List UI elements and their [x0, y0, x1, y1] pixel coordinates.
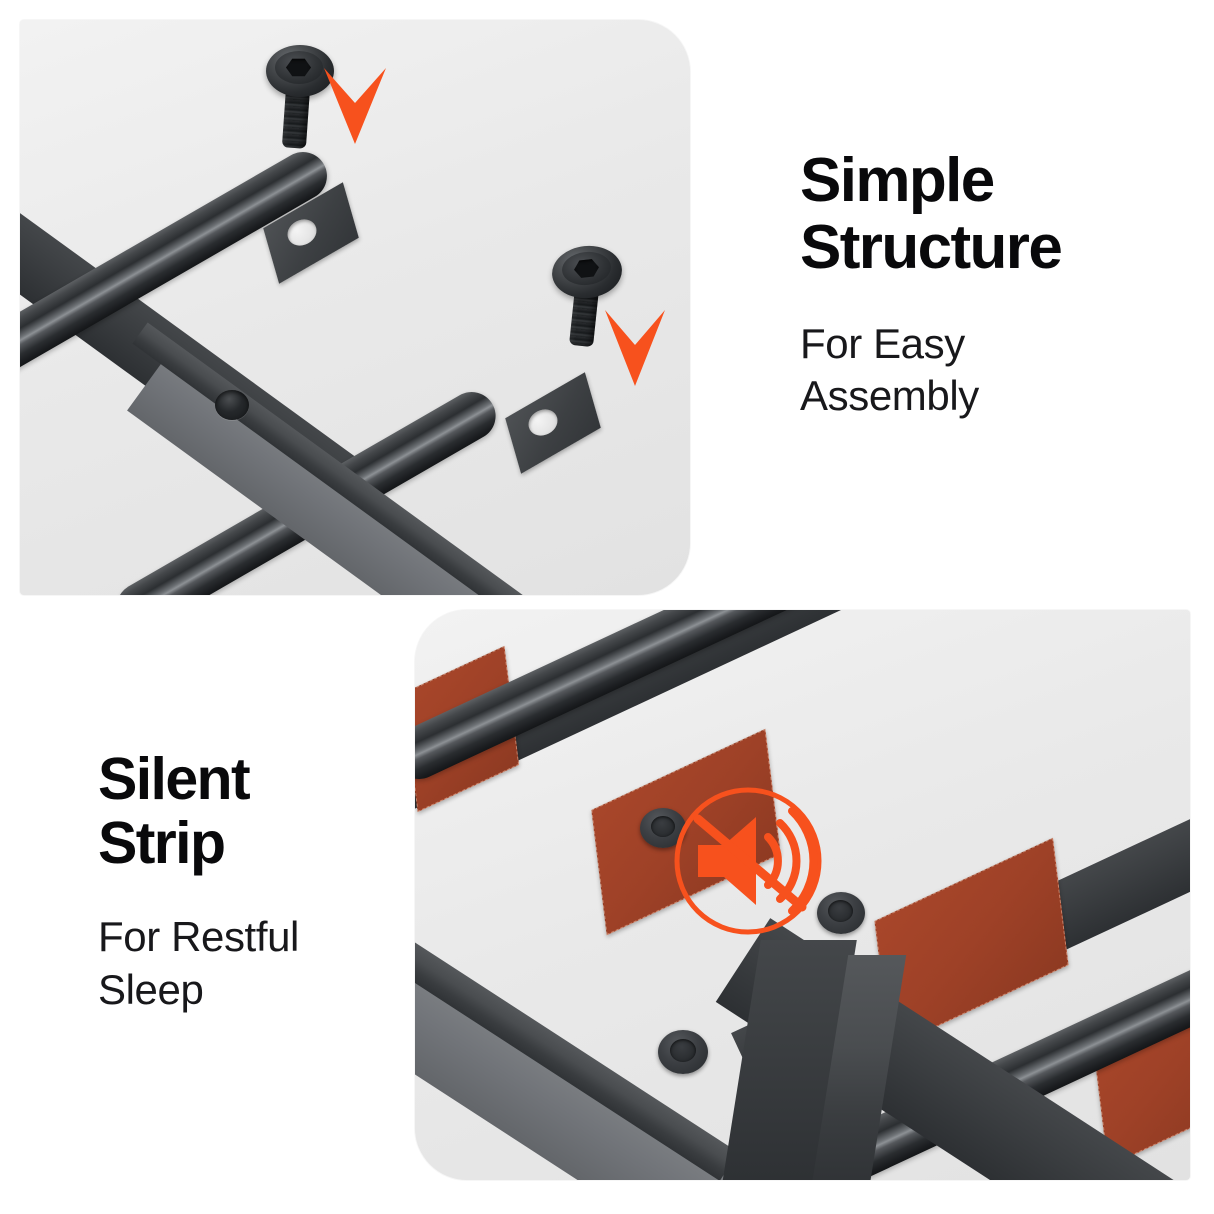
bed-frame-bolt-assembly-photo [20, 20, 690, 595]
hex-socket-cap-screw-middle [547, 238, 627, 358]
feature-subline-silent-strip: For Restful Sleep [98, 911, 428, 1015]
feature-text-simple-structure: Simple Structure For Easy Assembly [800, 148, 1200, 422]
feature-text-silent-strip: Silent Strip For Restful Sleep [98, 748, 428, 1016]
rubber-grommet-cap-right-recess [828, 900, 853, 922]
feature-subline-simple-structure: For Easy Assembly [800, 318, 1200, 422]
rubber-grommet-cap-center-recess [670, 1039, 696, 1062]
center-support-beam-bolt-hole [215, 390, 249, 420]
feature-headline-simple-structure: Simple Structure [800, 148, 1200, 282]
feature-headline-silent-strip: Silent Strip [98, 748, 428, 875]
mute-speaker-icon [672, 785, 824, 937]
hex-socket-cap-screw-top [260, 38, 340, 158]
